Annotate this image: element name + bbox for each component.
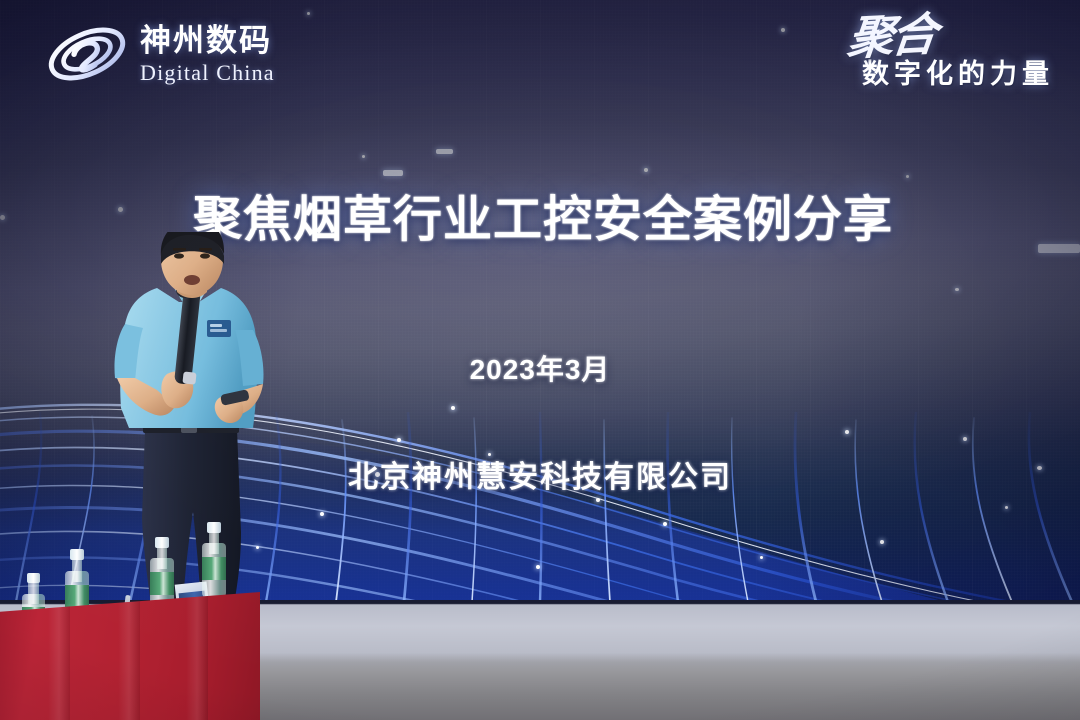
light-particle <box>955 288 959 291</box>
event-slogan: 聚合 数字化的力量 <box>848 16 1054 91</box>
water-bottle <box>202 522 226 598</box>
panel-table <box>0 555 265 720</box>
table-drape <box>0 592 260 720</box>
brand-logo: 神州数码 Digital China <box>44 18 275 90</box>
brand-name-cn: 神州数码 <box>140 25 275 56</box>
light-particle <box>307 12 310 15</box>
slogan-headline: 聚合 <box>845 14 936 61</box>
light-dash <box>436 149 453 154</box>
light-particle <box>362 155 365 158</box>
light-dash <box>383 170 403 176</box>
light-particle <box>906 175 909 178</box>
conference-stage-photo: 神州数码 Digital China 聚合 数字化的力量 聚焦烟草行业工控安全案… <box>0 0 1080 720</box>
speaker-presenter <box>95 232 295 604</box>
light-particle <box>781 28 785 32</box>
brand-name-en: Digital China <box>140 62 275 84</box>
light-particle <box>644 168 648 172</box>
digital-china-swirl-icon <box>44 18 130 90</box>
